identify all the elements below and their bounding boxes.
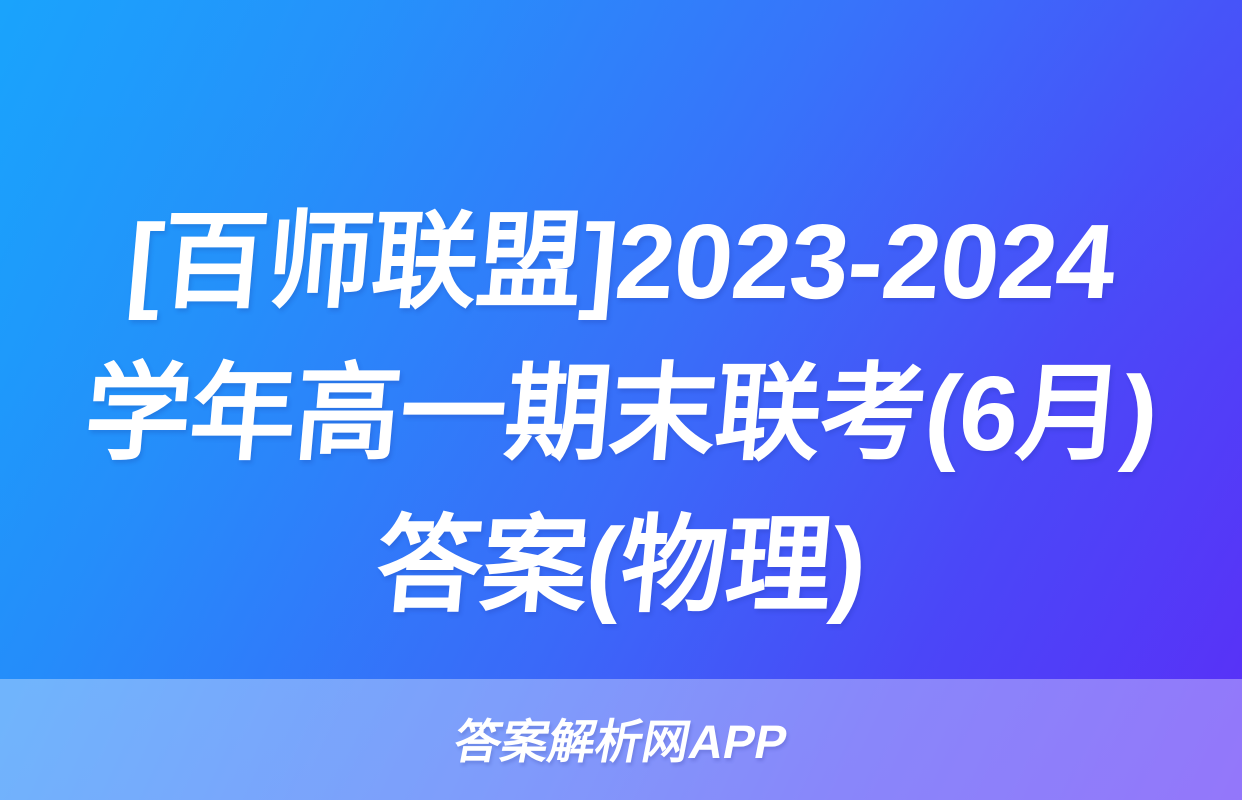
footer-banner: 答案解析网APP [0,679,1242,800]
title-line-1: [百师联盟]2023-2024 [0,186,1242,338]
app-name-label: 答案解析网APP [451,718,792,765]
title-line-3: 答案(物理) [0,490,1242,642]
poster-title-block: [百师联盟]2023-2024 学年高一期末联考(6月) 答案(物理) [0,186,1242,642]
exam-answer-poster: [百师联盟]2023-2024 学年高一期末联考(6月) 答案(物理) 答案解析… [0,0,1242,800]
title-line-2: 学年高一期末联考(6月) [0,338,1242,490]
